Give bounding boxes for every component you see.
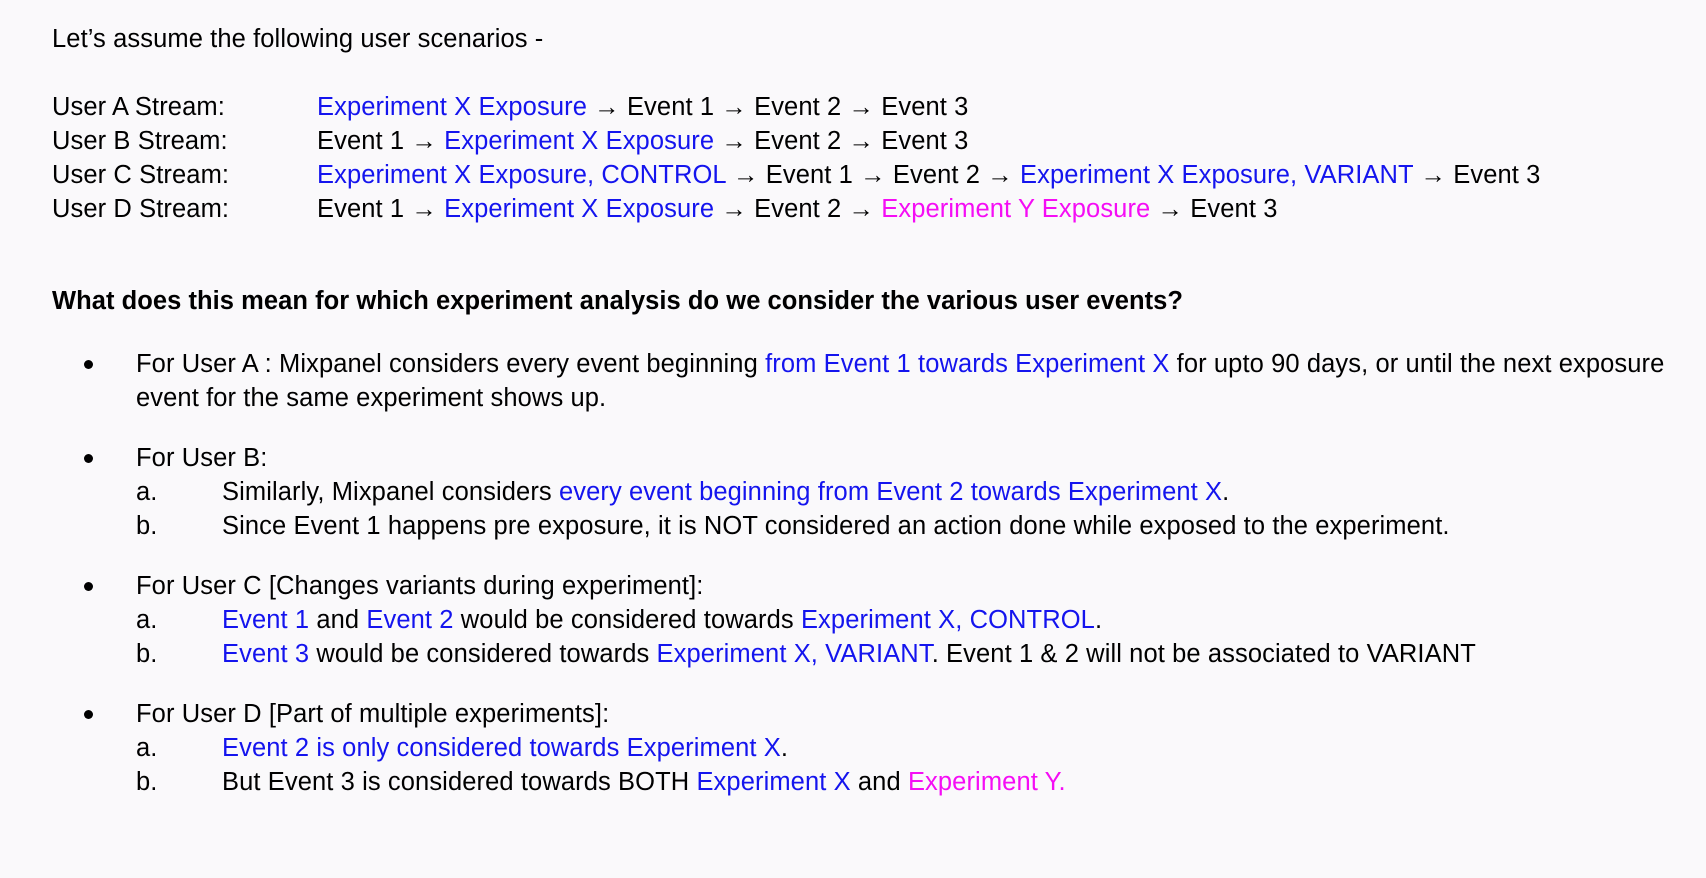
bullet-dot-icon xyxy=(84,454,93,463)
stream-3-segment-3: Experiment Y Exposure xyxy=(881,195,1150,223)
sub-list-text: Event 1 and Event 2 would be considered … xyxy=(222,606,1102,634)
bullet-dot-icon xyxy=(84,360,93,369)
user-stream-row: User A Stream:Experiment X Exposure → Ev… xyxy=(52,90,1540,124)
user-streams-rows: User A Stream:Experiment X Exposure → Ev… xyxy=(52,90,1540,226)
bullet-dot-icon xyxy=(84,582,93,591)
sub-3-0-segment-0: Event 2 is only considered towards Exper… xyxy=(222,734,781,762)
bullet-item-user-a: For User A : Mixpanel considers every ev… xyxy=(52,347,1678,415)
user-stream-row: User C Stream:Experiment X Exposure, CON… xyxy=(52,158,1540,192)
sub-3-1-segment-3: Experiment Y. xyxy=(908,768,1066,796)
sub-list-marker: b. xyxy=(136,765,157,799)
sub-list-marker: b. xyxy=(136,637,157,671)
sub-list-text: But Event 3 is considered towards BOTH E… xyxy=(222,768,1066,796)
document-body: Let’s assume the following user scenario… xyxy=(0,0,1706,878)
sub-list-marker: a. xyxy=(136,475,157,509)
user-stream-sequence: Experiment X Exposure → Event 1 → Event … xyxy=(317,90,1540,124)
user-stream-sequence: Event 1 → Experiment X Exposure → Event … xyxy=(317,192,1540,226)
bullet-text: For User A : Mixpanel considers every ev… xyxy=(136,347,1678,415)
bullet-1-segment-0: For User B: xyxy=(136,444,267,472)
sub-list-item: b.Event 3 would be considered towards Ex… xyxy=(136,637,1678,671)
user-stream-label: User D Stream: xyxy=(52,192,317,226)
sub-2-1-segment-3: . Event 1 & 2 will not be associated to … xyxy=(932,640,1476,668)
user-stream-row: User D Stream:Event 1 → Experiment X Exp… xyxy=(52,192,1540,226)
stream-2-segment-0: Experiment X Exposure, CONTROL xyxy=(317,161,726,189)
question-heading: What does this mean for which experiment… xyxy=(52,285,1678,317)
stream-0-segment-1: → Event 1 → Event 2 → Event 3 xyxy=(587,93,968,121)
sub-list-marker: b. xyxy=(136,509,157,543)
sub-list-marker: a. xyxy=(136,731,157,765)
stream-3-segment-0: Event 1 → xyxy=(317,195,444,223)
bullet-item-user-d: For User D [Part of multiple experiments… xyxy=(52,697,1678,799)
user-stream-sequence: Experiment X Exposure, CONTROL → Event 1… xyxy=(317,158,1540,192)
sub-2-0-segment-0: Event 1 xyxy=(222,606,309,634)
sub-1-0-segment-0: Similarly, Mixpanel considers xyxy=(222,478,559,506)
bullet-0-segment-0: For User A : Mixpanel considers every ev… xyxy=(136,350,765,378)
stream-1-segment-0: Event 1 → xyxy=(317,127,444,155)
sub-list-item: b.Since Event 1 happens pre exposure, it… xyxy=(136,509,1678,543)
stream-2-segment-3: → Event 3 xyxy=(1413,161,1540,189)
sub-2-1-segment-1: would be considered towards xyxy=(309,640,656,668)
stream-3-segment-1: Experiment X Exposure xyxy=(444,195,714,223)
bullet-text: For User D [Part of multiple experiments… xyxy=(136,697,1678,731)
sub-list-item: b.But Event 3 is considered towards BOTH… xyxy=(136,765,1678,799)
stream-1-segment-2: → Event 2 → Event 3 xyxy=(714,127,968,155)
bullet-item-user-b: For User B:a.Similarly, Mixpanel conside… xyxy=(52,441,1678,543)
sub-3-1-segment-2: and xyxy=(851,768,908,796)
sub-3-1-segment-0: But Event 3 is considered towards BOTH xyxy=(222,768,696,796)
sub-list-marker: a. xyxy=(136,603,157,637)
sub-list-item: a.Similarly, Mixpanel considers every ev… xyxy=(136,475,1678,509)
user-streams-table: User A Stream:Experiment X Exposure → Ev… xyxy=(52,90,1540,226)
sub-list-text: Event 3 would be considered towards Expe… xyxy=(222,640,1476,668)
sub-2-1-segment-2: Experiment X, VARIANT xyxy=(657,640,932,668)
sub-1-0-segment-1: every event beginning from Event 2 towar… xyxy=(559,478,1222,506)
user-stream-label: User B Stream: xyxy=(52,124,317,158)
user-stream-row: User B Stream:Event 1 → Experiment X Exp… xyxy=(52,124,1540,158)
stream-2-segment-2: Experiment X Exposure, VARIANT xyxy=(1020,161,1413,189)
stream-2-segment-1: → Event 1 → Event 2 → xyxy=(726,161,1020,189)
sub-list-text: Since Event 1 happens pre exposure, it i… xyxy=(222,512,1450,540)
sub-list-text: Similarly, Mixpanel considers every even… xyxy=(222,478,1229,506)
stream-1-segment-1: Experiment X Exposure xyxy=(444,127,714,155)
sub-3-1-segment-1: Experiment X xyxy=(696,768,850,796)
sub-list-user-d: a.Event 2 is only considered towards Exp… xyxy=(136,731,1678,799)
bullet-text: For User B: xyxy=(136,441,1678,475)
sub-2-0-segment-3: would be considered towards xyxy=(454,606,801,634)
sub-1-1-segment-0: Since Event 1 happens pre exposure, it i… xyxy=(222,512,1450,540)
bullet-dot-icon xyxy=(84,710,93,719)
stream-3-segment-4: → Event 3 xyxy=(1150,195,1277,223)
user-stream-sequence: Event 1 → Experiment X Exposure → Event … xyxy=(317,124,1540,158)
user-stream-label: User C Stream: xyxy=(52,158,317,192)
sub-2-0-segment-2: Event 2 xyxy=(366,606,453,634)
sub-list-user-c: a.Event 1 and Event 2 would be considere… xyxy=(136,603,1678,671)
bullet-item-user-c: For User C [Changes variants during expe… xyxy=(52,569,1678,671)
sub-2-0-segment-5: . xyxy=(1095,606,1102,634)
sub-3-0-segment-1: . xyxy=(781,734,788,762)
bullet-3-segment-0: For User D [Part of multiple experiments… xyxy=(136,700,609,728)
sub-1-0-segment-2: . xyxy=(1222,478,1229,506)
analysis-bullet-list: For User A : Mixpanel considers every ev… xyxy=(52,347,1678,799)
sub-list-item: a.Event 1 and Event 2 would be considere… xyxy=(136,603,1678,637)
stream-0-segment-0: Experiment X Exposure xyxy=(317,93,587,121)
bullet-2-segment-0: For User C [Changes variants during expe… xyxy=(136,572,703,600)
bullet-text: For User C [Changes variants during expe… xyxy=(136,569,1678,603)
sub-list-user-b: a.Similarly, Mixpanel considers every ev… xyxy=(136,475,1678,543)
intro-paragraph: Let’s assume the following user scenario… xyxy=(52,22,1678,56)
sub-list-text: Event 2 is only considered towards Exper… xyxy=(222,734,788,762)
sub-2-0-segment-4: Experiment X, CONTROL xyxy=(801,606,1095,634)
bullet-0-segment-1: from Event 1 towards Experiment X xyxy=(765,350,1169,378)
stream-3-segment-2: → Event 2 → xyxy=(714,195,881,223)
sub-list-item: a.Event 2 is only considered towards Exp… xyxy=(136,731,1678,765)
sub-2-1-segment-0: Event 3 xyxy=(222,640,309,668)
user-stream-label: User A Stream: xyxy=(52,90,317,124)
sub-2-0-segment-1: and xyxy=(309,606,366,634)
